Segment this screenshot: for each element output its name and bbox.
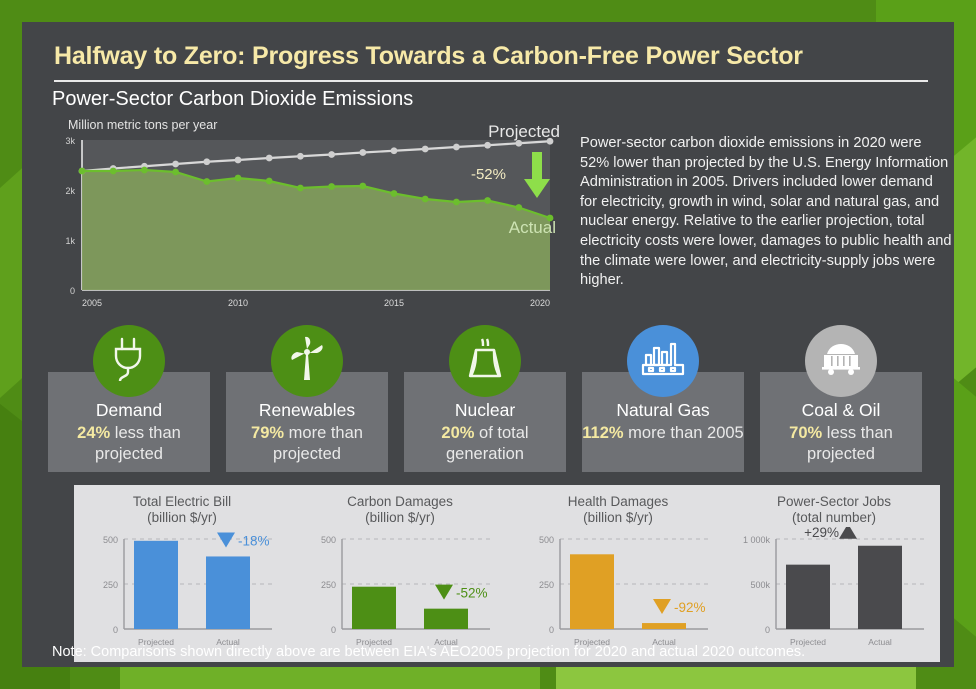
plug-icon <box>108 337 150 386</box>
stat-card-label: Renewables <box>226 400 388 421</box>
bar-chart-svg: 0250500ProjectedActual-92% <box>510 527 726 662</box>
stat-card-natural-gas: Natural Gas112% more than 2005 <box>582 372 744 472</box>
actual-series-label: Actual <box>509 218 556 238</box>
bar-chart-title: Carbon Damages(billion $/yr) <box>292 485 508 526</box>
cooling-tower-icon <box>463 338 507 385</box>
projected-series-label: Projected <box>488 122 560 142</box>
stat-card-nuclear: Nuclear20% of total generation <box>404 372 566 472</box>
coal-car-icon-circle <box>805 325 877 397</box>
svg-text:2010: 2010 <box>228 298 248 308</box>
svg-text:250: 250 <box>321 580 336 590</box>
factory-icon-circle <box>627 325 699 397</box>
svg-text:0: 0 <box>70 286 75 296</box>
svg-text:250: 250 <box>539 580 554 590</box>
stat-card-percent: 70% <box>789 424 822 442</box>
title-divider <box>54 80 928 82</box>
svg-text:2005: 2005 <box>82 298 102 308</box>
bar-chart-total-electric-bill: Total Electric Bill(billion $/yr)0250500… <box>74 485 290 662</box>
stat-card-label: Natural Gas <box>582 400 744 421</box>
svg-text:-18%: -18% <box>238 533 270 548</box>
bar-chart-title: Power-Sector Jobs(total number) <box>726 485 942 526</box>
svg-text:0: 0 <box>113 625 118 635</box>
comparison-bar-panel: Total Electric Bill(billion $/yr)0250500… <box>74 485 940 662</box>
factory-icon <box>641 342 685 381</box>
bar-chart-carbon-damages: Carbon Damages(billion $/yr)0250500Proje… <box>292 485 508 662</box>
svg-text:500: 500 <box>321 535 336 545</box>
infographic-card: Halfway to Zero: Progress Towards a Carb… <box>22 22 954 667</box>
svg-text:2015: 2015 <box>384 298 404 308</box>
svg-text:2020: 2020 <box>530 298 550 308</box>
wind-turbine-icon-circle <box>271 325 343 397</box>
svg-text:500: 500 <box>539 535 554 545</box>
svg-text:+29%: +29% <box>804 527 839 540</box>
svg-text:1 000k: 1 000k <box>743 535 771 545</box>
stat-card-value: 24% less than projected <box>48 423 210 465</box>
svg-text:-92%: -92% <box>674 600 706 615</box>
bar-chart-title: Total Electric Bill(billion $/yr) <box>74 485 290 526</box>
svg-text:0: 0 <box>765 625 770 635</box>
svg-text:500: 500 <box>103 535 118 545</box>
stat-card-percent: 112% <box>582 424 623 442</box>
coal-car-icon <box>819 342 863 381</box>
bar-chart-svg: 0250500ProjectedActual-52% <box>292 527 508 662</box>
bar-chart-power-sector-jobs: Power-Sector Jobs(total number)0500k1 00… <box>726 485 942 662</box>
stat-card-percent: 20% <box>441 424 474 442</box>
cooling-tower-icon-circle <box>449 325 521 397</box>
section-subtitle: Power-Sector Carbon Dioxide Emissions <box>52 88 413 111</box>
stat-card-label: Demand <box>48 400 210 421</box>
stat-card-value: 112% more than 2005 <box>582 423 744 444</box>
wind-turbine-icon <box>286 336 328 387</box>
stat-card-label: Nuclear <box>404 400 566 421</box>
svg-text:0: 0 <box>331 625 336 635</box>
svg-text:3k: 3k <box>65 136 75 146</box>
down-arrow-icon <box>524 152 550 203</box>
stat-card-value: 20% of total generation <box>404 423 566 465</box>
stat-card-percent: 79% <box>251 424 284 442</box>
stat-card-coal-oil: Coal & Oil70% less than projected <box>760 372 922 472</box>
stat-card-renewables: Renewables79% more than projected <box>226 372 388 472</box>
y-axis-caption: Million metric tons per year <box>68 118 217 132</box>
stat-card-value: 70% less than projected <box>760 423 922 465</box>
emissions-delta-label: -52% <box>471 166 506 183</box>
stat-card-label: Coal & Oil <box>760 400 922 421</box>
stat-card-description: more than projected <box>273 424 363 463</box>
footnote: Note: Comparisons shown directly above a… <box>52 644 805 660</box>
summary-paragraph: Power-sector carbon dioxide emissions in… <box>580 134 952 291</box>
line-chart-svg: 01k2k3k2005201020152020 <box>50 132 570 318</box>
stat-card-description: more than 2005 <box>624 424 744 442</box>
bar-chart-title: Health Damages(billion $/yr) <box>510 485 726 526</box>
svg-text:1k: 1k <box>65 236 75 246</box>
svg-text:2k: 2k <box>65 186 75 196</box>
svg-text:250: 250 <box>103 580 118 590</box>
emissions-line-chart: Million metric tons per year 01k2k3k2005… <box>50 118 570 318</box>
bar-chart-health-damages: Health Damages(billion $/yr)0250500Proje… <box>510 485 726 662</box>
stat-card-value: 79% more than projected <box>226 423 388 465</box>
svg-text:500k: 500k <box>750 580 770 590</box>
svg-text:-52%: -52% <box>456 586 488 601</box>
plug-icon-circle <box>93 325 165 397</box>
stat-card-percent: 24% <box>77 424 110 442</box>
stat-card-demand: Demand24% less than projected <box>48 372 210 472</box>
svg-text:Actual: Actual <box>868 637 892 647</box>
stat-card-row: Demand24% less than projectedRenewables7… <box>48 372 932 480</box>
page-title: Halfway to Zero: Progress Towards a Carb… <box>54 42 803 71</box>
svg-text:0: 0 <box>549 625 554 635</box>
bar-chart-svg: 0250500ProjectedActual-18% <box>74 527 290 662</box>
bar-chart-svg: 0500k1 000kProjectedActual+29% <box>726 527 942 662</box>
